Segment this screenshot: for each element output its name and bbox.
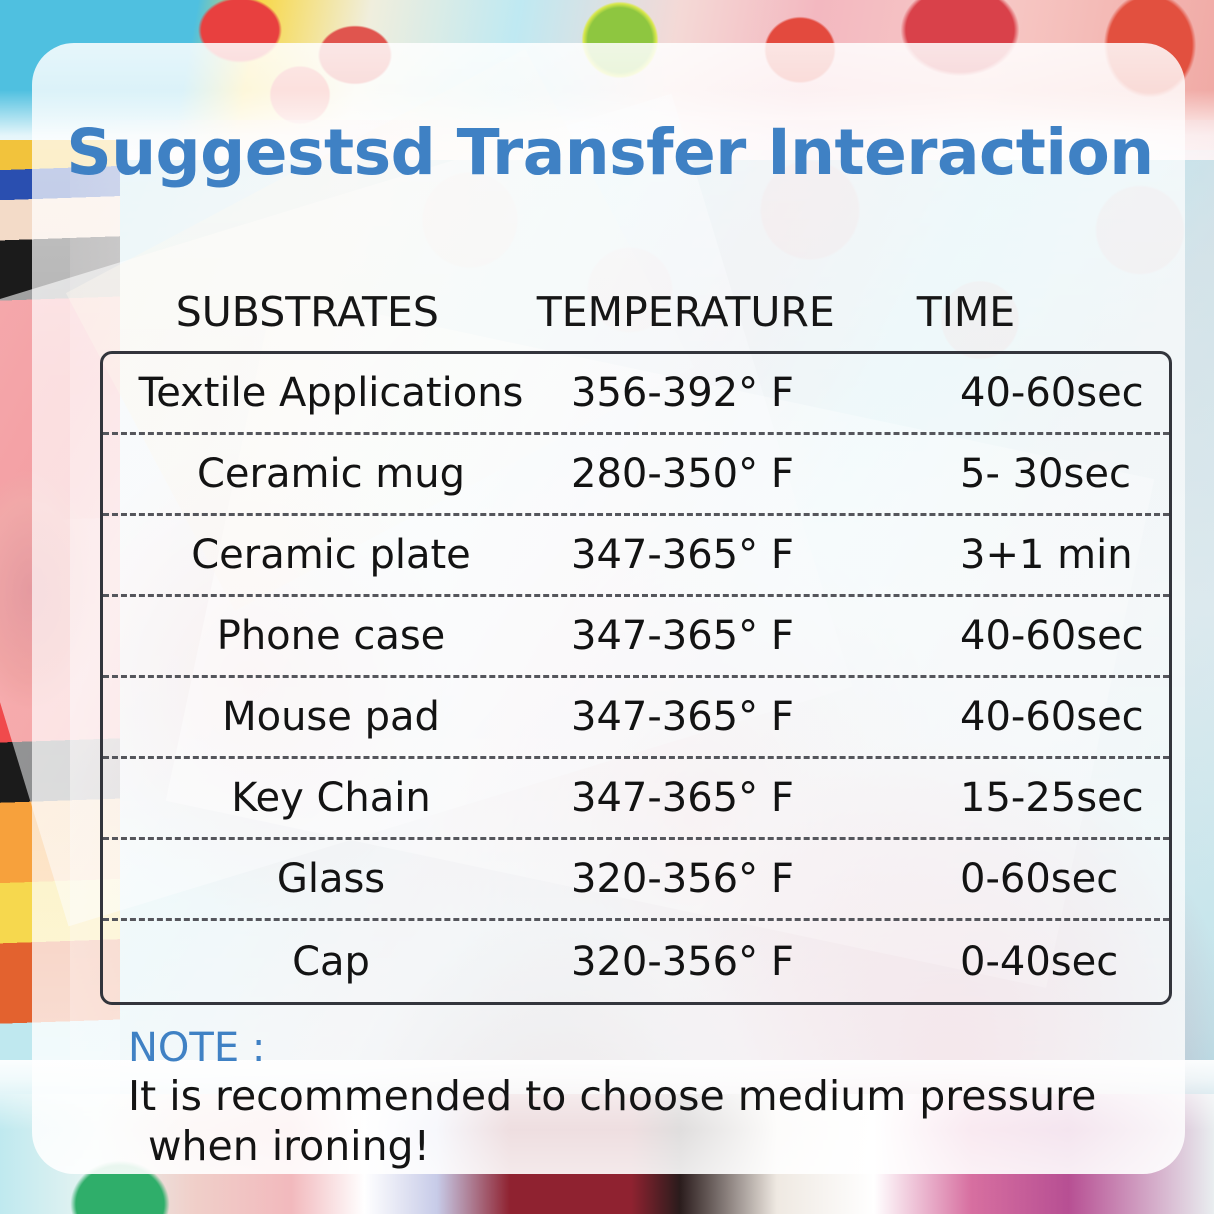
cell-temperature: 320-356° F [553, 859, 898, 899]
cell-substrate: Phone case [103, 616, 553, 656]
cell-time: 15-25sec [898, 778, 1169, 818]
note-line-one: It is recommended to choose medium press… [128, 1071, 1138, 1121]
cell-time: 40-60sec [898, 697, 1169, 737]
table-row: Cap 320-356° F 0-40sec [103, 921, 1169, 1002]
table-row: Textile Applications 356-392° F 40-60sec [103, 354, 1169, 435]
cell-substrate: Cap [103, 942, 553, 982]
cell-substrate: Mouse pad [103, 697, 553, 737]
card-content: Suggestsd Transfer Interaction SUBSTRATE… [32, 43, 1185, 1174]
column-header-time: TIME [855, 292, 1172, 333]
cell-substrate: Textile Applications [103, 373, 553, 413]
cell-temperature: 347-365° F [553, 778, 898, 818]
table-row: Ceramic plate 347-365° F 3+1 min [103, 516, 1169, 597]
cell-temperature: 280-350° F [553, 454, 898, 494]
cell-temperature: 347-365° F [553, 616, 898, 656]
table-row: Glass 320-356° F 0-60sec [103, 840, 1169, 921]
table-row: Key Chain 347-365° F 15-25sec [103, 759, 1169, 840]
cell-time: 0-40sec [898, 942, 1169, 982]
note-section: NOTE : It is recommended to choose mediu… [128, 1025, 1138, 1171]
cell-substrate: Glass [103, 859, 553, 899]
cell-temperature: 320-356° F [553, 942, 898, 982]
cell-substrate: Ceramic mug [103, 454, 553, 494]
table-header-row: SUBSTRATES TEMPERATURE TIME [100, 283, 1172, 341]
cell-temperature: 347-365° F [553, 535, 898, 575]
infographic-stage: Suggestsd Transfer Interaction SUBSTRATE… [0, 0, 1214, 1214]
table-row: Ceramic mug 280-350° F 5- 30sec [103, 435, 1169, 516]
cell-time: 5- 30sec [898, 454, 1169, 494]
cell-time: 40-60sec [898, 616, 1169, 656]
cell-substrate: Key Chain [103, 778, 553, 818]
column-header-substrates: SUBSTRATES [100, 292, 515, 333]
note-line-two: when ironing! [128, 1121, 1138, 1171]
cell-time: 40-60sec [898, 373, 1169, 413]
settings-table: Textile Applications 356-392° F 40-60sec… [100, 351, 1172, 1005]
table-row: Mouse pad 347-365° F 40-60sec [103, 678, 1169, 759]
cell-time: 3+1 min [898, 535, 1169, 575]
info-card-panel: Suggestsd Transfer Interaction SUBSTRATE… [32, 43, 1185, 1174]
column-header-temperature: TEMPERATURE [515, 292, 855, 333]
cell-temperature: 356-392° F [553, 373, 898, 413]
cell-temperature: 347-365° F [553, 697, 898, 737]
table-row: Phone case 347-365° F 40-60sec [103, 597, 1169, 678]
page-title: Suggestsd Transfer Interaction [60, 121, 1160, 184]
note-label: NOTE : [128, 1025, 1138, 1071]
cell-substrate: Ceramic plate [103, 535, 553, 575]
cell-time: 0-60sec [898, 859, 1169, 899]
